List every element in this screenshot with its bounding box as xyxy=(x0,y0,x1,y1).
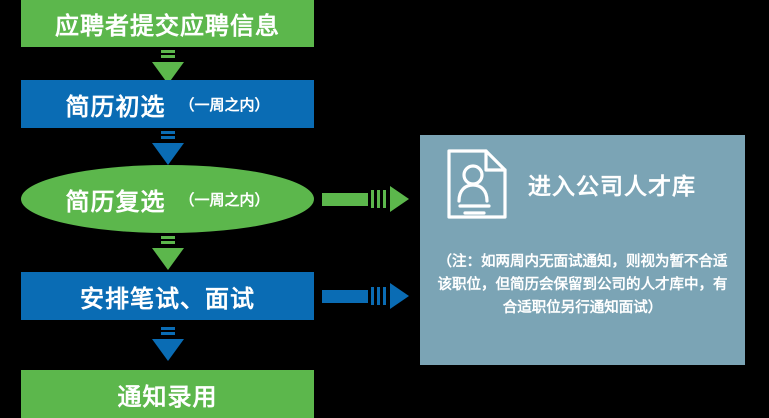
arrow-down-first-to-second-screen xyxy=(152,131,184,165)
branch-arrow-test-interview-to-talent-pool xyxy=(322,283,409,309)
talent-pool-title: 进入公司人才库 xyxy=(528,167,696,201)
arrow-stem xyxy=(161,236,175,247)
flow-node-label: 安排笔试、面试 xyxy=(80,279,255,314)
branch-arrow-second-screen-to-talent-pool xyxy=(322,186,409,212)
arrow-down-test-to-notify-hire xyxy=(152,327,184,361)
recruitment-flowchart: 应聘者提交应聘信息 简历初选 （一周之内） 简历复选 （一周之内） 安排笔试、面… xyxy=(0,0,769,418)
arrow-head xyxy=(390,186,409,212)
arrow-head xyxy=(152,248,184,270)
arrow-bar xyxy=(322,193,368,206)
flow-node-label: 简历复选 xyxy=(65,182,165,217)
flow-node-resume-second-screen[interactable]: 简历复选 （一周之内） xyxy=(21,165,314,233)
talent-pool-panel[interactable]: 进入公司人才库 （注：如两周内无面试通知，则视为暂不合适该职位，但简历会保留到公… xyxy=(420,135,745,365)
arrow-ticks xyxy=(371,190,389,208)
flow-node-label: 应聘者提交应聘信息 xyxy=(55,6,280,41)
flow-node-label: 简历初选 xyxy=(65,87,165,122)
talent-pool-note: （注：如两周内无面试通知，则视为暂不合适该职位，但简历会保留到公司的人才库中，有… xyxy=(434,251,731,320)
arrow-stem xyxy=(161,50,175,61)
flow-node-sublabel: （一周之内） xyxy=(179,189,269,210)
flow-node-notify-hire[interactable]: 通知录用 xyxy=(21,370,314,418)
flow-node-label: 通知录用 xyxy=(118,377,218,412)
flow-node-resume-first-screen[interactable]: 简历初选 （一周之内） xyxy=(21,80,314,128)
arrow-head xyxy=(152,339,184,361)
arrow-down-submit-to-first-screen xyxy=(152,50,184,84)
arrow-stem xyxy=(161,131,175,142)
flow-node-arrange-test-interview[interactable]: 安排笔试、面试 xyxy=(21,272,314,320)
flow-node-submit-application[interactable]: 应聘者提交应聘信息 xyxy=(21,0,314,47)
arrow-head xyxy=(390,283,409,309)
arrow-down-second-screen-to-test xyxy=(152,236,184,270)
arrow-bar xyxy=(322,290,368,303)
flow-node-sublabel: （一周之内） xyxy=(179,94,269,115)
arrow-ticks xyxy=(371,287,389,305)
talent-pool-header: 进入公司人才库 xyxy=(446,147,696,221)
resume-person-document-icon xyxy=(446,147,508,221)
arrow-head xyxy=(152,143,184,165)
arrow-stem xyxy=(161,327,175,338)
